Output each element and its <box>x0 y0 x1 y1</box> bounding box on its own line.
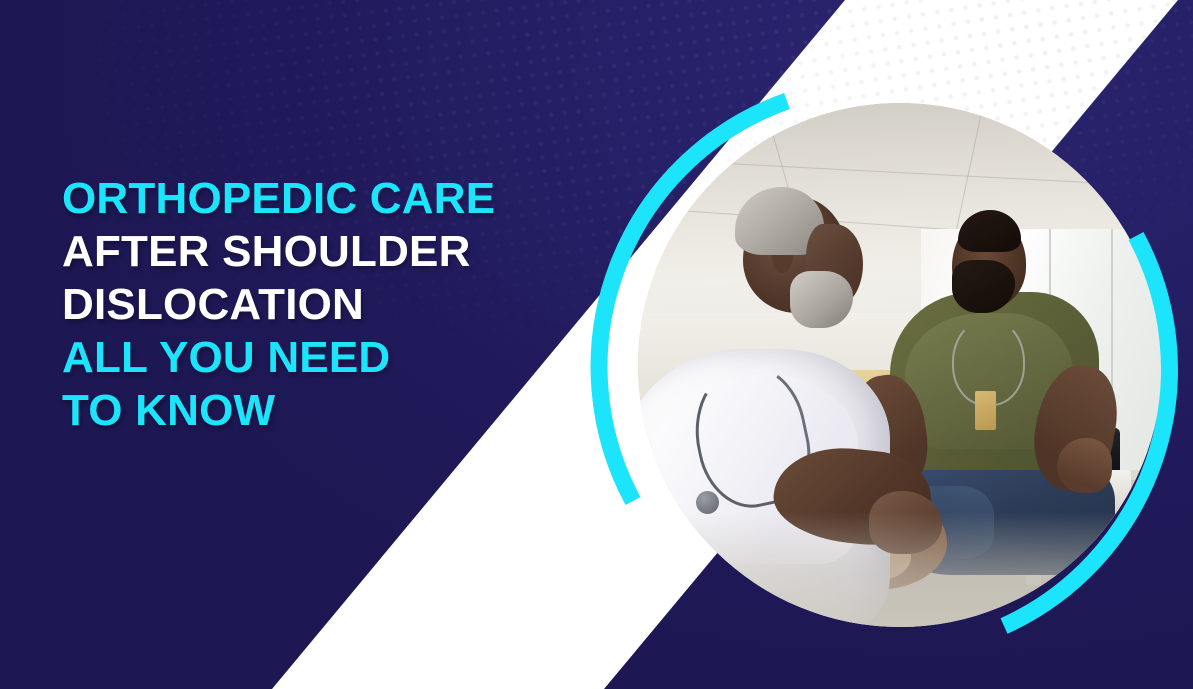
patient-right-hand <box>1057 438 1112 493</box>
headline-line-4: ALL YOU NEED <box>62 331 582 384</box>
headline-line-3: DISLOCATION <box>62 278 582 331</box>
headline-line-5: TO KNOW <box>62 384 582 437</box>
headline-line-1: ORTHOPEDIC CARE <box>62 172 582 225</box>
photo-bottom-fade <box>638 512 1162 627</box>
stethoscope-bell <box>696 491 719 514</box>
dog-tag <box>975 391 996 430</box>
orthopedic-care-banner: ORTHOPEDIC CARE AFTER SHOULDER DISLOCATI… <box>0 0 1193 689</box>
clinic-photo-circle <box>638 103 1162 627</box>
photo-scene <box>638 103 1162 627</box>
headline-line-2: AFTER SHOULDER <box>62 225 582 278</box>
headline-block: ORTHOPEDIC CARE AFTER SHOULDER DISLOCATI… <box>62 172 582 437</box>
